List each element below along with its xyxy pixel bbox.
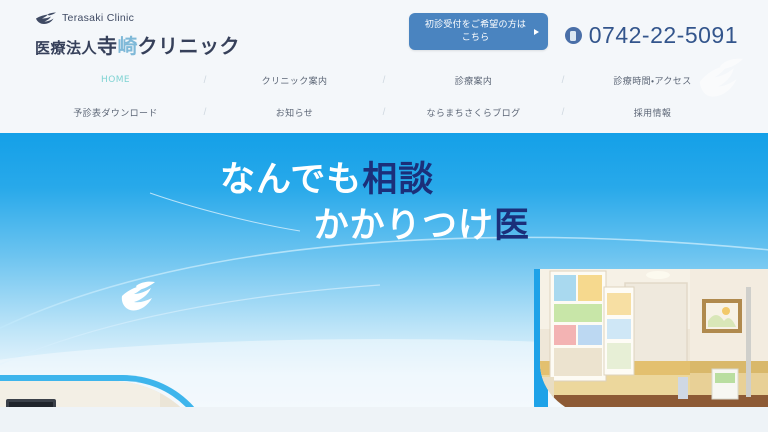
nav-item-blog[interactable]: ならまちさくらブログ: [392, 106, 555, 119]
nav-separator: /: [555, 75, 571, 86]
cta-line-2: こちら: [425, 32, 526, 45]
page-root: Terasaki Clinic 医療法人寺崎クリニック 初診受付をご希望の方は …: [0, 0, 768, 432]
logo-english-name: Terasaki Clinic: [62, 12, 134, 24]
arrow-right-icon: [534, 29, 539, 35]
hero-banner: なんでも相談 かかりつけ医: [0, 133, 768, 407]
hero-line2-dark-text: 医: [494, 206, 530, 246]
site-header: Terasaki Clinic 医療法人寺崎クリニック 初診受付をご希望の方は …: [0, 0, 768, 133]
logo-name-char-accent: 崎: [118, 34, 138, 58]
phone-number-text: 0742-22-5091: [589, 22, 738, 49]
nav-item-medical-guide[interactable]: 診療案内: [392, 74, 555, 87]
logo-name-suffix: クリニック: [138, 34, 241, 58]
site-logo[interactable]: Terasaki Clinic 医療法人寺崎クリニック: [35, 10, 240, 59]
nav-item-home[interactable]: HOME: [34, 75, 197, 85]
nav-separator: /: [376, 75, 392, 86]
nav-row-secondary: 予診表ダウンロード / お知らせ / ならまちさくらブログ / 採用情報: [0, 96, 768, 128]
hero-headline-line-1: なんでも相談: [212, 157, 532, 203]
logo-japanese-name: 医療法人寺崎クリニック: [35, 30, 240, 59]
cta-line-1: 初診受付をご希望の方は: [425, 19, 526, 32]
logo-corporate-prefix: 医療法人: [35, 39, 97, 57]
hero-line1-white-text: なんでも: [220, 160, 362, 200]
nav-separator: /: [197, 75, 213, 86]
nav-separator: /: [555, 107, 571, 118]
nav-item-hours-access[interactable]: 診療時間・アクセス: [571, 74, 734, 87]
phone-icon: [565, 27, 582, 44]
hero-line1-dark-text: 相談: [362, 160, 434, 200]
hero-line2-white-text: かかりつけ: [314, 206, 494, 246]
footer-strip: [0, 407, 768, 432]
nav-item-recruit[interactable]: 採用情報: [571, 106, 734, 119]
main-navigation: HOME / クリニック案内 / 診療案内 / 診療時間・アクセス 予診表ダウン…: [0, 64, 768, 128]
nav-item-questionnaire-download[interactable]: 予診表ダウンロード: [34, 106, 197, 119]
hero-headline-line-2: かかりつけ医: [212, 203, 532, 249]
white-bird-icon: [118, 281, 158, 315]
first-visit-reception-button[interactable]: 初診受付をご希望の方は こちら: [409, 13, 548, 50]
waiting-room-photo[interactable]: [540, 269, 768, 407]
nav-separator: /: [197, 107, 213, 118]
bird-logo-icon: [35, 12, 57, 25]
nav-separator: /: [376, 107, 392, 118]
hero-headline: なんでも相談 かかりつけ医: [212, 157, 532, 249]
logo-name-char-1: 寺: [97, 34, 118, 58]
nav-row-primary: HOME / クリニック案内 / 診療案内 / 診療時間・アクセス: [0, 64, 768, 96]
cta-button-text: 初診受付をご希望の方は こちら: [425, 19, 532, 45]
nav-item-clinic-guide[interactable]: クリニック案内: [213, 74, 376, 87]
phone-number-link[interactable]: 0742-22-5091: [565, 22, 738, 49]
nav-item-news[interactable]: お知らせ: [213, 106, 376, 119]
logo-top-row: Terasaki Clinic: [35, 10, 240, 26]
